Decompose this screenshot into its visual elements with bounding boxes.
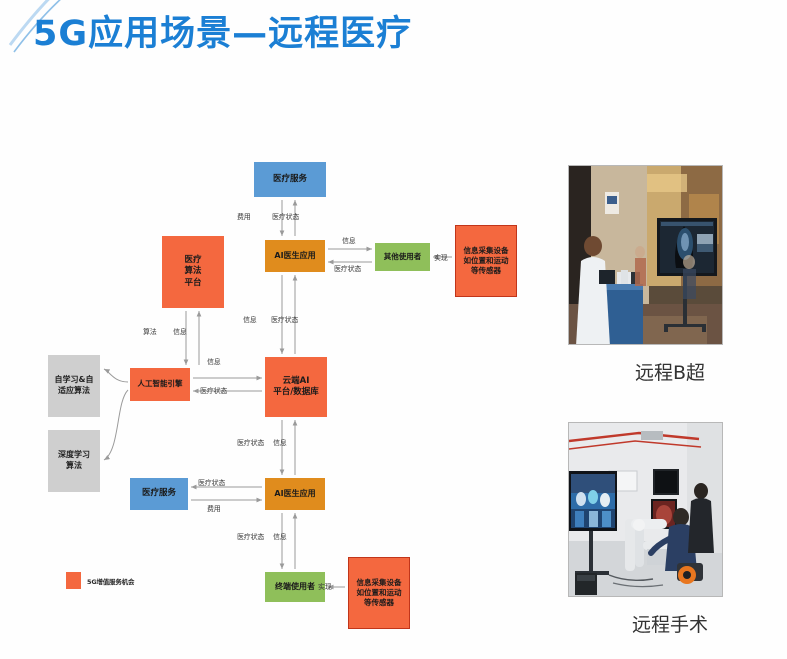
photo-remote-surgery: [568, 422, 723, 597]
node-other-users: 其他使用者: [375, 243, 430, 271]
page-title: 5G应用场景—远程医疗: [33, 14, 412, 54]
edge-label-info-platform: 信息: [173, 327, 187, 337]
edge-label-realize-bot: 实现: [318, 582, 332, 592]
node-cloud-ai-platform: 云端AI平台/数据库: [265, 357, 327, 417]
legend-label: 5G增值服务机会: [87, 576, 134, 586]
node-ai-doctor-app-bot: AI医生应用: [265, 478, 325, 510]
edge-label-info-ai-cloud: 信息: [207, 357, 221, 367]
edge-label-medstat-user: 医疗状态: [237, 532, 264, 542]
edge-label-medstat-ai-cloud: 医疗状态: [200, 386, 227, 396]
remote-surgery-image: [569, 423, 723, 597]
node-deep-learn-algo: 深度学习算法: [48, 430, 100, 492]
edge-label-info-other-users: 信息: [342, 236, 356, 246]
node-ai-engine: 人工智能引擎: [130, 368, 190, 401]
edge-label-realize-top: 实现: [434, 253, 448, 263]
edge-label-medstat-cloud-app: 医疗状态: [237, 438, 264, 448]
legend: 5G增值服务机会: [66, 572, 134, 589]
node-medical-algo-platform: 医疗算法平台: [162, 236, 224, 308]
node-medical-service-top: 医疗服务: [254, 162, 326, 197]
slide-canvas: 5G应用场景—远程医疗: [0, 0, 787, 659]
node-sensor-device-top: 信息采集设备如位置和运动等传感器: [455, 225, 517, 297]
caption-remote-surgery: 远程手术: [560, 610, 780, 637]
edge-label-info-app-cloud: 信息: [243, 315, 257, 325]
node-medical-service-bot: 医疗服务: [130, 478, 188, 510]
edge-label-medstat-app-cloud: 医疗状态: [271, 315, 298, 325]
legend-color-swatch: [66, 572, 81, 589]
edge-label-medstat-other-users: 医疗状态: [334, 264, 361, 274]
edge-label-info-user: 信息: [273, 532, 287, 542]
remote-ultrasound-image: [569, 166, 723, 345]
edge-label-fee-bot: 费用: [207, 504, 221, 514]
architecture-diagram: 医疗服务医疗算法平台AI医生应用其他使用者信息采集设备如位置和运动等传感器自学习…: [30, 150, 530, 630]
node-ai-doctor-app-top: AI医生应用: [265, 240, 325, 272]
node-end-user: 终端使用者: [265, 572, 325, 602]
node-self-learn-algo: 自学习&自适应算法: [48, 355, 100, 417]
caption-remote-ultrasound: 远程B超: [560, 358, 780, 385]
photo-remote-ultrasound: [568, 165, 723, 345]
edge-label-info-cloud-app: 信息: [273, 438, 287, 448]
node-sensor-device-bot: 信息采集设备如位置和运动等传感器: [348, 557, 410, 629]
edge-label-fee-top: 费用: [237, 212, 251, 222]
edge-label-medstat-svc-bot: 医疗状态: [198, 478, 225, 488]
edge-label-algorithm: 算法: [143, 327, 157, 337]
edge-label-med-status-top: 医疗状态: [272, 212, 299, 222]
